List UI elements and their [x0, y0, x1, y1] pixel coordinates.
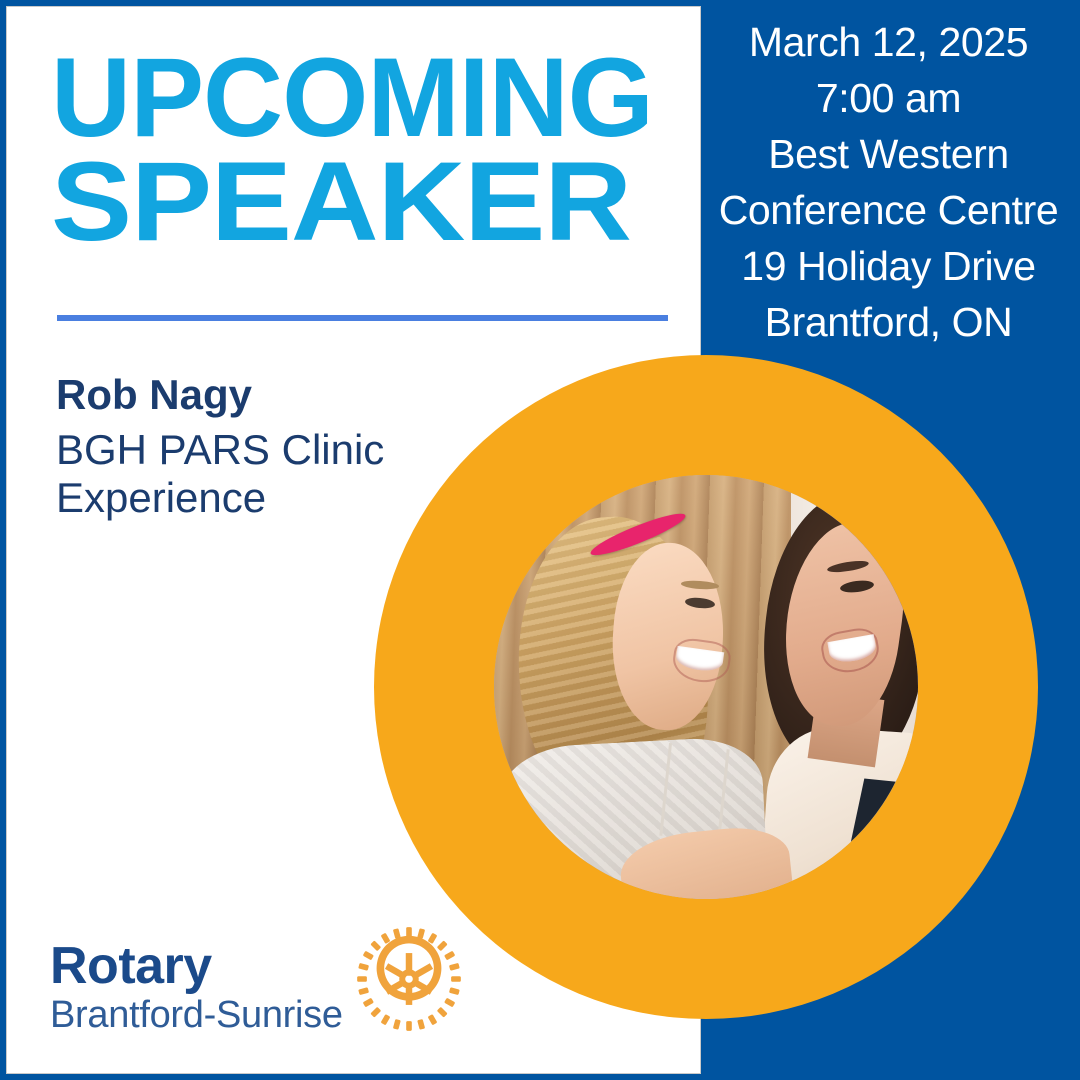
page-title: UPCOMING SPEAKER	[51, 46, 691, 254]
poster-canvas: UPCOMING SPEAKER Rob Nagy BGH PARS Clini…	[0, 0, 1080, 1080]
speaker-block: Rob Nagy BGH PARS Clinic Experience	[56, 368, 486, 522]
event-venue-line-2: Conference Centre	[703, 182, 1074, 238]
speaker-photo	[494, 475, 918, 899]
speaker-topic-line-1: BGH PARS Clinic	[56, 426, 486, 474]
event-time: 7:00 am	[703, 70, 1074, 126]
speaker-topic-line-2: Experience	[56, 474, 486, 522]
rotary-club-name: Brantford-Sunrise	[50, 993, 343, 1037]
headline-line-2: SPEAKER	[51, 150, 745, 254]
rotary-wordmark: Rotary	[50, 939, 343, 993]
rotary-gear-wheel-icon	[355, 925, 463, 1038]
photo-background	[494, 475, 918, 899]
photo-girl-strap	[659, 743, 730, 842]
event-date: March 12, 2025	[703, 14, 1074, 70]
event-city: Brantford, ON	[703, 294, 1074, 350]
event-details: March 12, 2025 7:00 am Best Western Conf…	[703, 14, 1074, 350]
rotary-logo-text: Rotary Brantford-Sunrise	[50, 925, 343, 1037]
event-address: 19 Holiday Drive	[703, 238, 1074, 294]
headline-line-1: UPCOMING	[51, 46, 685, 150]
rotary-logo: Rotary Brantford-Sunrise	[50, 925, 463, 1038]
headline-divider	[57, 315, 668, 321]
speaker-topic: BGH PARS Clinic Experience	[56, 426, 486, 522]
event-venue-line-1: Best Western	[703, 126, 1074, 182]
speaker-name: Rob Nagy	[56, 368, 486, 422]
